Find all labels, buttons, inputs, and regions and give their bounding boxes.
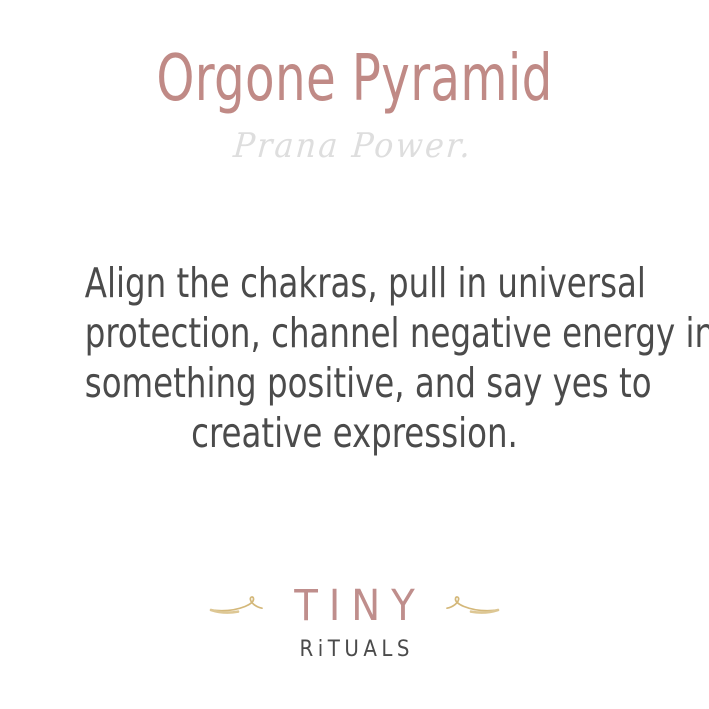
description-line: protection, channel negative energy into (85, 308, 624, 358)
flourish-swash-left-icon (209, 591, 267, 621)
product-info-card: Orgone Pyramid Prana Power. Align the ch… (0, 0, 709, 709)
product-subtitle: Prana Power. (22, 128, 684, 165)
brand-subname: RiTUALS (0, 639, 709, 661)
brand-logo: TINY RiTUALS (0, 582, 709, 661)
brand-name: TINY (283, 585, 426, 628)
description-line: creative expression. (85, 408, 624, 458)
title-block: Orgone Pyramid Prana Power. (0, 46, 709, 165)
description-line: Align the chakras, pull in universal (85, 258, 624, 308)
page-title: Orgone Pyramid (57, 46, 653, 114)
flourish-swash-right-icon (442, 591, 500, 621)
brand-logo-row: TINY (0, 582, 709, 630)
description-line: something positive, and say yes to (85, 358, 624, 408)
product-description: Align the chakras, pull in universal pro… (48, 258, 661, 458)
